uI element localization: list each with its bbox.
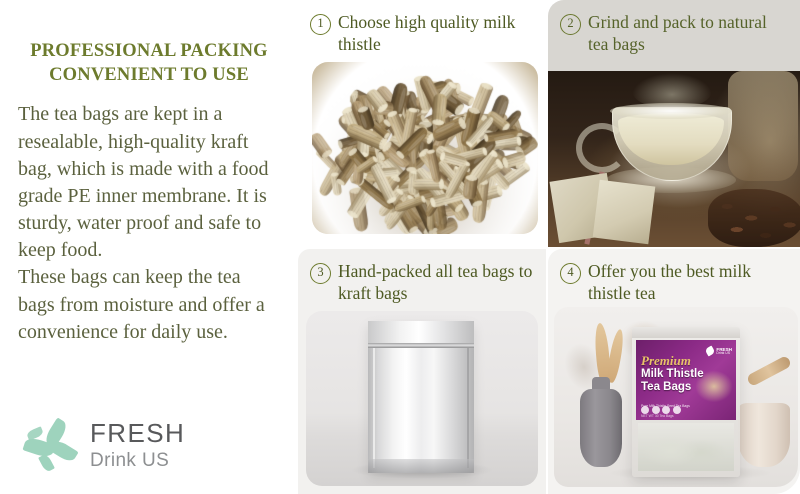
pouch-seam xyxy=(467,348,469,468)
step-caption-4: Offer you the best milk thistle tea xyxy=(588,260,790,304)
package-brand-sub: Drink US xyxy=(716,352,732,356)
seed-pile xyxy=(708,189,800,247)
pouch-zip-seal xyxy=(368,343,474,348)
ceramic-vase xyxy=(580,389,622,467)
certification-badge-icon xyxy=(641,406,649,414)
leaf-cluster-icon xyxy=(24,420,84,476)
package-title-line-1: Milk Thistle xyxy=(641,368,704,380)
step-panel-1: 1 Choose high quality milk thistle xyxy=(298,0,546,247)
pouch-seam xyxy=(373,348,375,468)
pouch-top-seal xyxy=(368,321,474,343)
leaf-icon xyxy=(705,346,716,357)
package-top-seal xyxy=(632,327,740,338)
package-premium-word: Premium xyxy=(641,353,691,369)
step-number-badge-2: 2 xyxy=(560,14,581,35)
leaf-icon xyxy=(48,438,78,464)
certification-badge-icon xyxy=(652,406,660,414)
product-infographic: PROFESSIONAL PACKING CONVENIENT TO USE T… xyxy=(0,0,800,494)
visible-tea-bags xyxy=(638,423,734,471)
package-label: Premium Milk Thistle Tea Bags Pure Milk … xyxy=(636,340,736,420)
step-caption-3: Hand-packed all tea bags to kraft bags xyxy=(338,260,536,304)
package-title: Milk Thistle Tea Bags xyxy=(641,368,704,394)
glass-jar xyxy=(728,71,798,181)
package-certification-badges xyxy=(641,406,681,414)
package-net-weight: NET WT 30 Tea Bags xyxy=(641,414,674,418)
left-text-column: PROFESSIONAL PACKING CONVENIENT TO USE T… xyxy=(0,0,296,494)
brand-name: FRESH xyxy=(90,420,185,446)
stand-up-pouch xyxy=(368,321,474,473)
certification-badge-icon xyxy=(662,406,670,414)
step-1-photo-milk-thistle-seeds xyxy=(312,62,538,234)
package-title-line-2: Tea Bags xyxy=(641,381,691,393)
step-3-header: 3 Hand-packed all tea bags to kraft bags xyxy=(298,249,546,304)
brand-logo: FRESH Drink US xyxy=(24,416,234,478)
step-1-header: 1 Choose high quality milk thistle xyxy=(298,0,546,55)
step-panel-2: 2 Grind and pack to natural tea bags xyxy=(548,0,800,247)
brand-tagline: Drink US xyxy=(90,449,185,473)
product-package: Premium Milk Thistle Tea Bags Pure Milk … xyxy=(632,327,740,477)
step-number-badge-3: 3 xyxy=(310,263,331,284)
pestle xyxy=(746,355,792,387)
step-caption-2: Grind and pack to natural tea bags xyxy=(588,11,790,55)
step-2-photo-tea-cup xyxy=(548,71,800,247)
pouch-base-gusset xyxy=(368,459,474,473)
step-panel-4: 4 Offer you the best milk thistle tea Pr… xyxy=(548,249,800,494)
leaf-icon xyxy=(38,453,55,473)
cup-rim xyxy=(610,103,732,119)
page-title: PROFESSIONAL PACKING CONVENIENT TO USE xyxy=(16,40,282,87)
step-4-header: 4 Offer you the best milk thistle tea xyxy=(548,249,800,304)
description-paragraph-1: The tea bags are kept in a resealable, h… xyxy=(18,101,280,264)
step-number-badge-1: 1 xyxy=(310,14,331,35)
description-text: The tea bags are kept in a resealable, h… xyxy=(16,101,282,346)
certification-badge-icon xyxy=(673,406,681,414)
mortar xyxy=(738,403,790,467)
step-2-header: 2 Grind and pack to natural tea bags xyxy=(548,0,800,55)
seed-pile-render xyxy=(312,62,538,234)
step-panel-3: 3 Hand-packed all tea bags to kraft bags xyxy=(298,249,546,494)
brand-logo-text: FRESH Drink US xyxy=(90,420,185,473)
package-brand-logo: FRESH Drink US xyxy=(706,347,732,356)
description-paragraph-2: These bags can keep the tea bags from mo… xyxy=(18,264,280,346)
tea-bag xyxy=(593,180,656,244)
package-brand-name: FRESH Drink US xyxy=(716,347,732,356)
step-3-photo-kraft-pouch xyxy=(306,311,538,486)
step-4-photo-finished-product: Premium Milk Thistle Tea Bags Pure Milk … xyxy=(554,307,798,487)
step-number-badge-4: 4 xyxy=(560,263,581,284)
step-caption-1: Choose high quality milk thistle xyxy=(338,11,536,55)
